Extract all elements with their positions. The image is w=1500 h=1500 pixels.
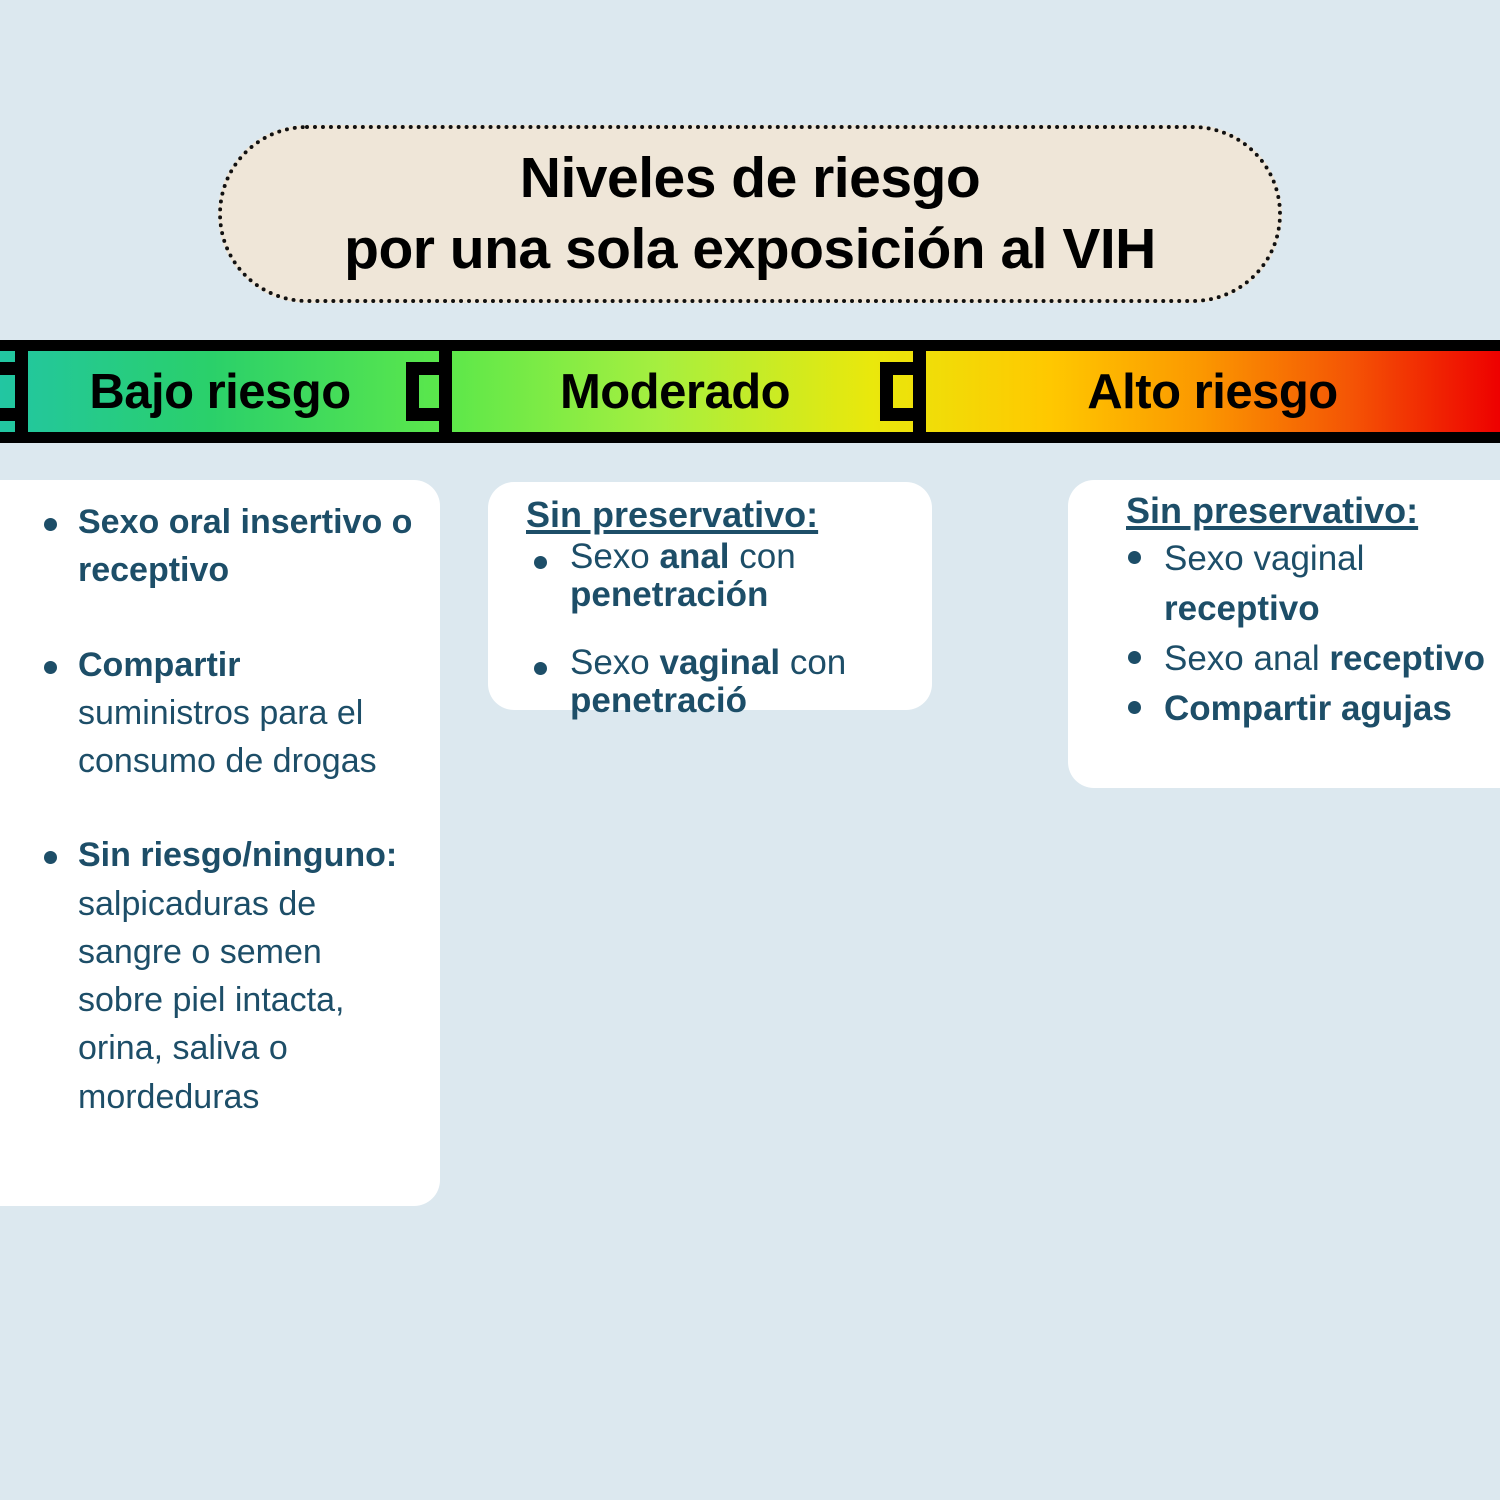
- mod-item-1-mid: con: [780, 643, 846, 682]
- mod-item-0-pre: Sexo: [570, 537, 660, 576]
- mod-item-1-pre: Sexo: [570, 643, 660, 682]
- high-risk-card: Sin preservativo: Sexo vaginal receptivo…: [1068, 480, 1500, 788]
- page-title-line-2: por una sola exposición al VIH: [344, 214, 1156, 285]
- mod-item-1-bold1: vaginal: [660, 643, 781, 682]
- high-risk-list: Sexo vaginal receptivo Sexo anal recepti…: [1108, 534, 1500, 733]
- high-item-1-pre: Sexo anal: [1164, 639, 1329, 678]
- high-item-2-bold1: Compartir agujas: [1164, 689, 1452, 728]
- list-item: Sexo vaginal receptivo: [1108, 534, 1500, 633]
- low-item-1-regular: suministros para el consumo de drogas: [78, 694, 377, 780]
- list-item: Sexo oral insertivo o receptivo: [24, 498, 416, 595]
- risk-level-bar: Bajo riesgo Moderado Alto riesgo: [0, 340, 1500, 443]
- low-item-0-bold: Sexo oral insertivo o receptivo: [78, 503, 412, 589]
- mod-item-0-bold1: anal: [660, 537, 730, 576]
- list-item: Compartir agujas: [1108, 684, 1500, 734]
- page-title-line-1: Niveles de riesgo: [520, 143, 980, 214]
- title-box: Niveles de riesgo por una sola exposició…: [218, 125, 1282, 303]
- list-item: Sexo anal receptivo: [1108, 634, 1500, 684]
- list-item: Sexo anal con penetración: [518, 538, 914, 614]
- mod-item-0-mid: con: [730, 537, 796, 576]
- high-card-heading: Sin preservativo:: [1108, 490, 1500, 532]
- low-item-2-regular: salpicaduras de sangre o semen sobre pie…: [78, 885, 345, 1116]
- low-risk-list: Sexo oral insertivo o receptivo Comparti…: [24, 498, 416, 1121]
- low-risk-card: Sexo oral insertivo o receptivo Comparti…: [0, 480, 440, 1206]
- moderate-risk-card: Sin preservativo: Sexo anal con penetrac…: [488, 482, 932, 710]
- high-item-1-bold1: receptivo: [1329, 639, 1485, 678]
- mod-item-1-bold2: penetració: [570, 681, 747, 720]
- risk-label-low: Bajo riesgo: [0, 351, 440, 432]
- risk-label-high: Alto riesgo: [925, 351, 1500, 432]
- mod-item-0-bold2: penetración: [570, 575, 768, 614]
- list-item: Compartir suministros para el consumo de…: [24, 641, 416, 786]
- moderate-risk-list: Sexo anal con penetración Sexo vaginal c…: [518, 538, 914, 719]
- high-item-0-bold1: receptivo: [1164, 589, 1320, 628]
- low-item-2-bold: Sin riesgo/ninguno:: [78, 836, 397, 874]
- low-item-1-bold: Compartir: [78, 646, 240, 684]
- high-item-0-pre: Sexo vaginal: [1164, 539, 1364, 578]
- list-item: Sin riesgo/ninguno: salpicaduras de sang…: [24, 831, 416, 1121]
- moderate-card-heading: Sin preservativo:: [518, 494, 914, 536]
- risk-label-moderate: Moderado: [450, 351, 900, 432]
- list-item: Sexo vaginal con penetració: [518, 644, 914, 720]
